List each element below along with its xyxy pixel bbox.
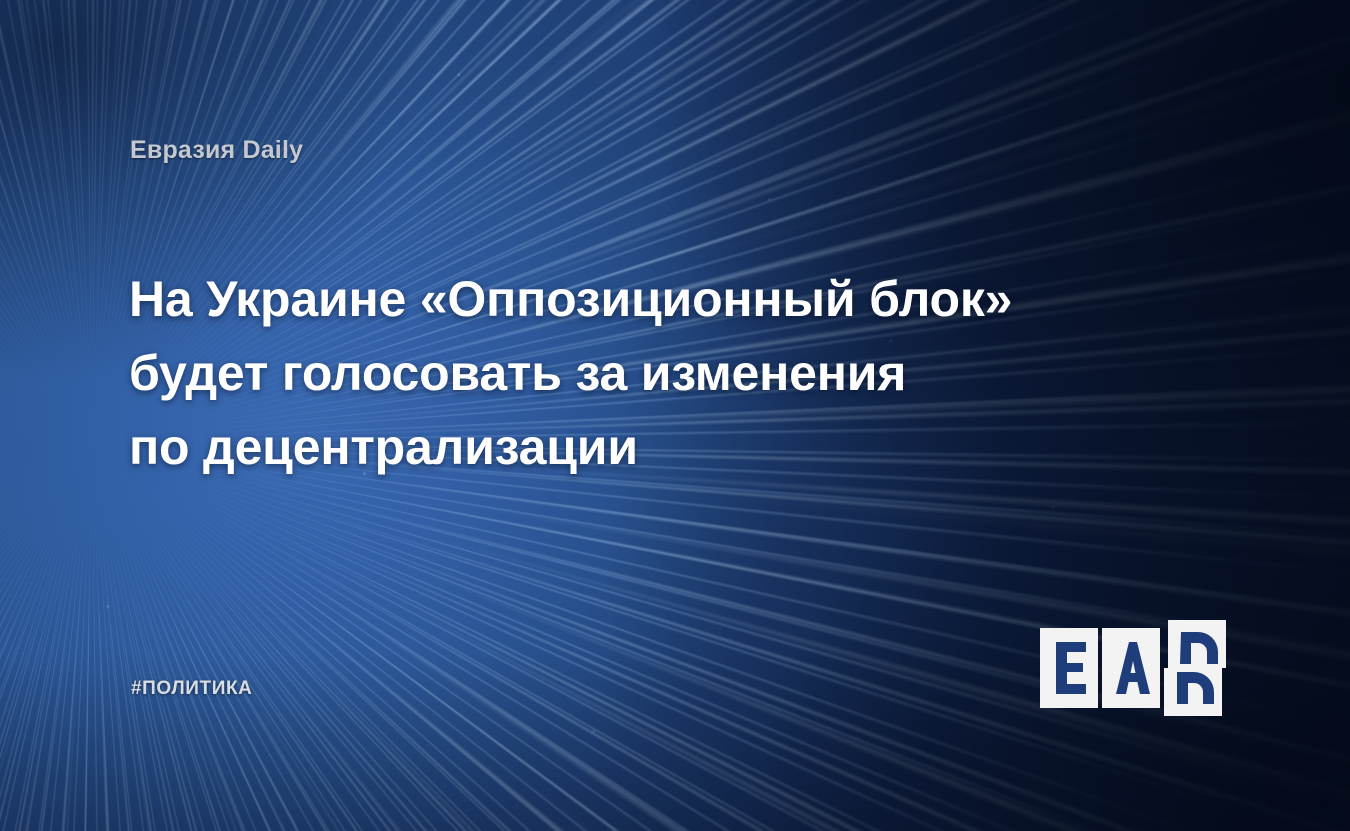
- headline-line-1: На Украине «Оппозиционный блок»: [129, 262, 1139, 336]
- eadaily-logo-icon: [1040, 620, 1226, 716]
- card-content: Евразия Daily На Украине «Оппозиционный …: [0, 0, 1350, 831]
- brand-wordmark[interactable]: Евразия Daily: [130, 136, 303, 165]
- category-tag[interactable]: #ПОЛИТИКА: [131, 678, 253, 700]
- headline-line-3: по децентрализации: [129, 410, 1139, 484]
- news-card: Евразия Daily На Украине «Оппозиционный …: [0, 0, 1350, 831]
- page-title: На Украине «Оппозиционный блок» будет го…: [129, 262, 1139, 484]
- eadaily-logo[interactable]: [1040, 620, 1226, 716]
- headline-line-2: будет голосовать за изменения: [129, 336, 1139, 410]
- logo-letter-e: [1056, 642, 1086, 694]
